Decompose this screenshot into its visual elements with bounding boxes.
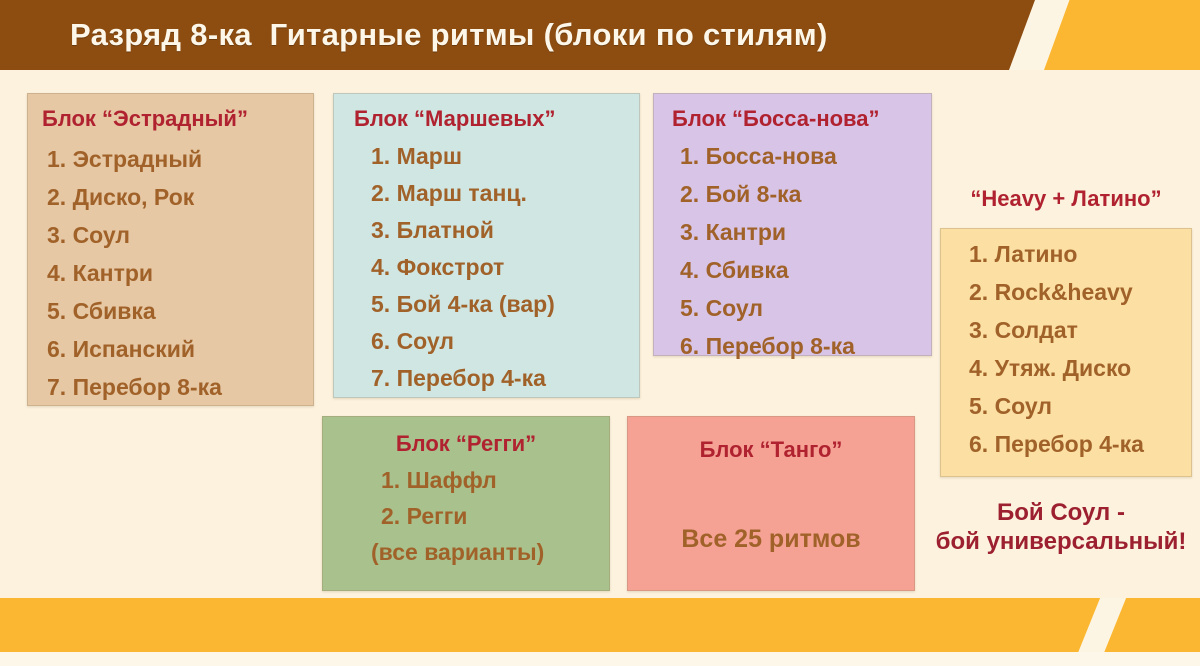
block-estradny-list: 1. Эстрадный 2. Диско, Рок 3. Соул 4. Ка… [42, 148, 313, 399]
soul-callout-line2: бой универсальный! [925, 527, 1197, 556]
page-title: Разряд 8-ка Гитарные ритмы (блоки по сти… [0, 17, 828, 53]
list-item: 1. Латино [969, 243, 1191, 266]
list-item: 5. Бой 4-ка (вар) [371, 293, 639, 316]
block-marshevyh-title: Блок “Маршевых” [354, 106, 639, 131]
block-marshevyh-list: 1. Марш 2. Марш танц. 3. Блатной 4. Фокс… [354, 145, 639, 390]
list-item: 4. Кантри [47, 262, 313, 285]
footer-bottom-strip [0, 652, 1200, 666]
list-item: 1. Эстрадный [47, 148, 313, 171]
slide: Разряд 8-ка Гитарные ритмы (блоки по сти… [0, 0, 1200, 666]
block-bossa-nova-title: Блок “Босса-нова” [672, 106, 931, 131]
list-item: 3. Блатной [371, 219, 639, 242]
list-item: 4. Фокстрот [371, 256, 639, 279]
block-estradny: Блок “Эстрадный” 1. Эстрадный 2. Диско, … [27, 93, 314, 406]
list-item: 4. Утяж. Диско [969, 357, 1191, 380]
block-reggi-note: (все варианты) [323, 541, 609, 564]
block-heavy-latino-title: “Heavy + Латино” [940, 186, 1192, 212]
list-item: 6. Перебор 8-ка [680, 335, 931, 358]
list-item: 2. Бой 8-ка [680, 183, 931, 206]
block-tango-subtitle: Все 25 ритмов [628, 525, 914, 554]
block-estradny-title: Блок “Эстрадный” [42, 106, 313, 131]
soul-callout-line1: Бой Соул - [925, 498, 1197, 527]
list-item: 6. Перебор 4-ка [969, 433, 1191, 456]
footer-diagonal-slash [1073, 598, 1130, 652]
block-heavy-latino: 1. Латино 2. Rock&heavy 3. Солдат 4. Утя… [940, 228, 1192, 477]
list-item: 3. Солдат [969, 319, 1191, 342]
block-reggi: Блок “Регги” 1. Шаффл 2. Регги (все вари… [322, 416, 610, 591]
block-bossa-nova: Блок “Босса-нова” 1. Босса-нова 2. Бой 8… [653, 93, 932, 356]
list-item: 6. Соул [371, 330, 639, 353]
header-title-banner: Разряд 8-ка Гитарные ритмы (блоки по сти… [0, 0, 1035, 70]
list-item: 4. Сбивка [680, 259, 931, 282]
block-marshevyh: Блок “Маршевых” 1. Марш 2. Марш танц. 3.… [333, 93, 640, 398]
list-item: 2. Регги [381, 505, 609, 528]
list-item: 5. Соул [969, 395, 1191, 418]
list-item: 5. Соул [680, 297, 931, 320]
list-item: 5. Сбивка [47, 300, 313, 323]
list-item: 7. Перебор 4-ка [371, 367, 639, 390]
block-reggi-title: Блок “Регги” [323, 431, 609, 456]
block-reggi-list: 1. Шаффл 2. Регги [323, 469, 609, 528]
list-item: 3. Соул [47, 224, 313, 247]
list-item: 2. Rock&heavy [969, 281, 1191, 304]
soul-callout: Бой Соул - бой универсальный! [925, 498, 1197, 557]
footer-band [0, 598, 1200, 652]
block-bossa-nova-list: 1. Босса-нова 2. Бой 8-ка 3. Кантри 4. С… [672, 145, 931, 358]
block-tango: Блок “Танго” Все 25 ритмов [627, 416, 915, 591]
list-item: 2. Диско, Рок [47, 186, 313, 209]
block-tango-title: Блок “Танго” [628, 437, 914, 462]
list-item: 1. Шаффл [381, 469, 609, 492]
block-heavy-latino-list: 1. Латино 2. Rock&heavy 3. Солдат 4. Утя… [957, 243, 1191, 456]
list-item: 6. Испанский [47, 338, 313, 361]
list-item: 3. Кантри [680, 221, 931, 244]
list-item: 7. Перебор 8-ка [47, 376, 313, 399]
list-item: 1. Босса-нова [680, 145, 931, 168]
list-item: 1. Марш [371, 145, 639, 168]
list-item: 2. Марш танц. [371, 182, 639, 205]
